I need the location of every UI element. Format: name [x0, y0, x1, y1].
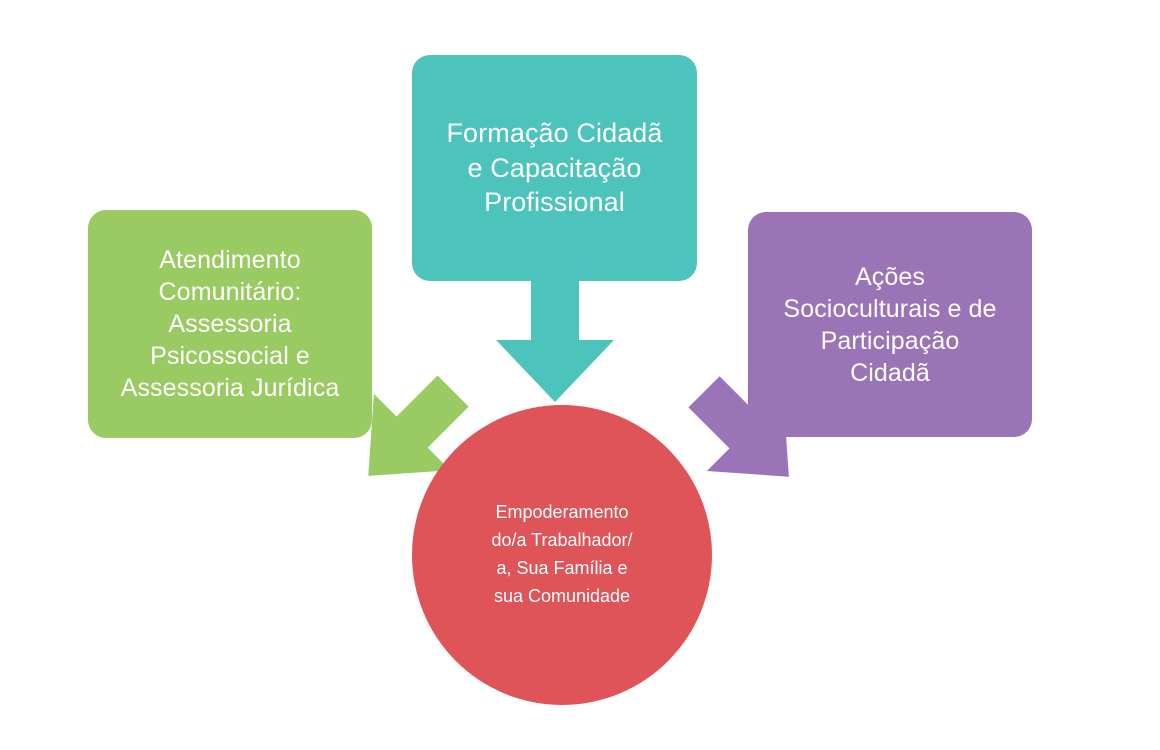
node-atendimento-comunitario[interactable]: Atendimento Comunitário: Assessoria Psic… [88, 210, 372, 438]
arrow-down-icon [487, 278, 623, 404]
node-label-formacao-cidada: Formação Cidadã e Capacitação Profission… [446, 116, 662, 220]
node-label-atendimento-comunitario: Atendimento Comunitário: Assessoria Psic… [121, 244, 340, 404]
node-label-acoes-socioculturais: Ações Socioculturais e de Participação C… [783, 261, 996, 389]
node-label-empoderamento: Empoderamento do/a Trabalhador/ a, Sua F… [491, 499, 632, 611]
node-formacao-cidada[interactable]: Formação Cidadã e Capacitação Profission… [412, 55, 697, 281]
node-acoes-socioculturais[interactable]: Ações Socioculturais e de Participação C… [748, 212, 1032, 437]
node-empoderamento[interactable]: Empoderamento do/a Trabalhador/ a, Sua F… [412, 405, 712, 705]
diagram-canvas: Atendimento Comunitário: Assessoria Psic… [0, 0, 1160, 750]
